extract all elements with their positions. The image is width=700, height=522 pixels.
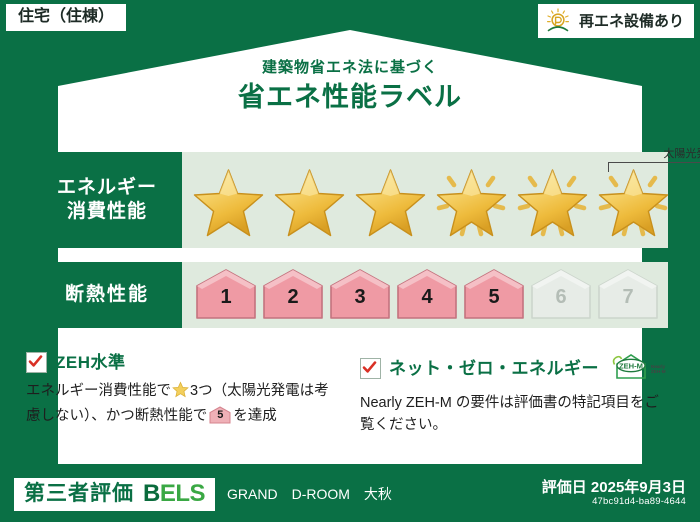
- insulation-level-item: 4: [395, 268, 459, 322]
- property-name: GRAND D-ROOM 大秋: [227, 487, 392, 501]
- inline-insulation-badge-num: 5: [209, 410, 231, 421]
- insulation-level-item: 7: [596, 268, 660, 322]
- label-title-block: 建築物省エネ法に基づく 省エネ性能ラベル: [0, 60, 700, 112]
- inline-star-icon: [172, 381, 189, 405]
- label-footer: 第三者評価 BELS GRAND D-ROOM 大秋 評価日 2025年9月3日…: [0, 466, 700, 522]
- insulation-level-number: 7: [596, 287, 660, 307]
- insulation-label-text: 断熱性能: [65, 283, 149, 307]
- evaluation-date: 評価日 2025年9月3日: [542, 479, 686, 496]
- insulation-level-number: 5: [462, 287, 526, 307]
- insulation-rating-area: 1234567: [182, 262, 668, 328]
- svg-text:ZEH-M: ZEH-M: [619, 361, 643, 370]
- energy-performance-label-box: エネルギー 消費性能: [32, 152, 182, 248]
- criterion-nze-header: ネット・ゼロ・エネルギー ZEH-M Nearly ZEH-M: [360, 352, 672, 385]
- insulation-level-number: 6: [529, 287, 593, 307]
- criterion-nze-title: ネット・ゼロ・エネルギー: [389, 360, 599, 377]
- insulation-level-item: 5: [462, 268, 526, 322]
- zeh-desc-post: を達成: [233, 408, 277, 424]
- insulation-level-number: 4: [395, 287, 459, 307]
- criterion-zeh-description: エネルギー消費性能で3つ（太陽光発電は考慮しない）、かつ断熱性能で5を達成: [26, 380, 336, 428]
- energy-performance-label: 建築物省エネ法に基づく 省エネ性能ラベル エネルギー 消費性能 太陽光発電(自家…: [0, 0, 700, 522]
- star-rating-item: [512, 152, 593, 248]
- bels-wordmark: BELS: [143, 482, 205, 506]
- evaluation-info: 評価日 2025年9月3日 47bc91d4-ba89-4644: [542, 479, 686, 509]
- zeh-m-logo-icon: ZEH-M Nearly ZEH-M: [611, 352, 675, 385]
- insulation-level-item: 2: [261, 268, 325, 322]
- criterion-nze-description: Nearly ZEH-M の要件は評価書の特記項目をご覧ください。: [360, 392, 672, 437]
- evaluation-id: 47bc91d4-ba89-4644: [542, 496, 686, 508]
- bels-jp-text: 第三者評価: [24, 483, 134, 504]
- energy-label-line1: エネルギー: [57, 176, 157, 200]
- insulation-level-number: 2: [261, 287, 325, 307]
- energy-performance-rating-area: 太陽光発電(自家消費)分: [182, 152, 668, 248]
- criterion-zeh-standard: ZEH水準 エネルギー消費性能で3つ（太陽光発電は考慮しない）、かつ断熱性能で5…: [26, 352, 336, 428]
- insulation-performance-row: 断熱性能 1234567: [32, 262, 668, 328]
- insulation-level-item: 6: [529, 268, 593, 322]
- star-rating-item: [593, 152, 674, 248]
- insulation-level-item: 3: [328, 268, 392, 322]
- svg-text:ZEH-M: ZEH-M: [651, 369, 666, 374]
- bels-letters-els: ELS: [160, 480, 205, 507]
- criterion-zeh-title: ZEH水準: [55, 354, 126, 371]
- building-type-tag: 住宅（住棟）: [6, 4, 126, 31]
- criterion-zeh-header: ZEH水準: [26, 352, 336, 373]
- bels-letter-b: B: [143, 480, 160, 507]
- star-rating-item: [269, 152, 350, 248]
- energy-performance-row: エネルギー 消費性能 太陽光発電(自家消費)分: [32, 152, 668, 248]
- insulation-performance-label-box: 断熱性能: [32, 262, 182, 328]
- checkbox-checked-icon: [26, 352, 47, 373]
- energy-star-rating: [188, 152, 674, 248]
- insulation-level-number: 3: [328, 287, 392, 307]
- label-main-title: 省エネ性能ラベル: [0, 83, 700, 113]
- checkbox-checked-icon: [360, 358, 381, 379]
- solar-sun-icon: [544, 8, 572, 34]
- insulation-level-number: 1: [194, 287, 258, 307]
- criterion-net-zero-energy: ネット・ゼロ・エネルギー ZEH-M Nearly ZEH-M Nearly Z…: [360, 352, 672, 437]
- star-rating-item: [188, 152, 269, 248]
- renewable-badge-label: 再エネ設備あり: [579, 14, 684, 29]
- star-rating-item: [431, 152, 512, 248]
- star-rating-item: [350, 152, 431, 248]
- insulation-level-scale: 1234567: [182, 268, 660, 322]
- energy-label-line2: 消費性能: [67, 200, 147, 224]
- bels-logo: 第三者評価 BELS: [14, 478, 215, 511]
- renewable-equipment-badge: 再エネ設備あり: [538, 4, 694, 38]
- label-subtitle: 建築物省エネ法に基づく: [0, 60, 700, 77]
- zeh-desc-pre: エネルギー消費性能で: [26, 383, 171, 399]
- inline-insulation-badge: 5: [209, 406, 231, 424]
- insulation-level-item: 1: [194, 268, 258, 322]
